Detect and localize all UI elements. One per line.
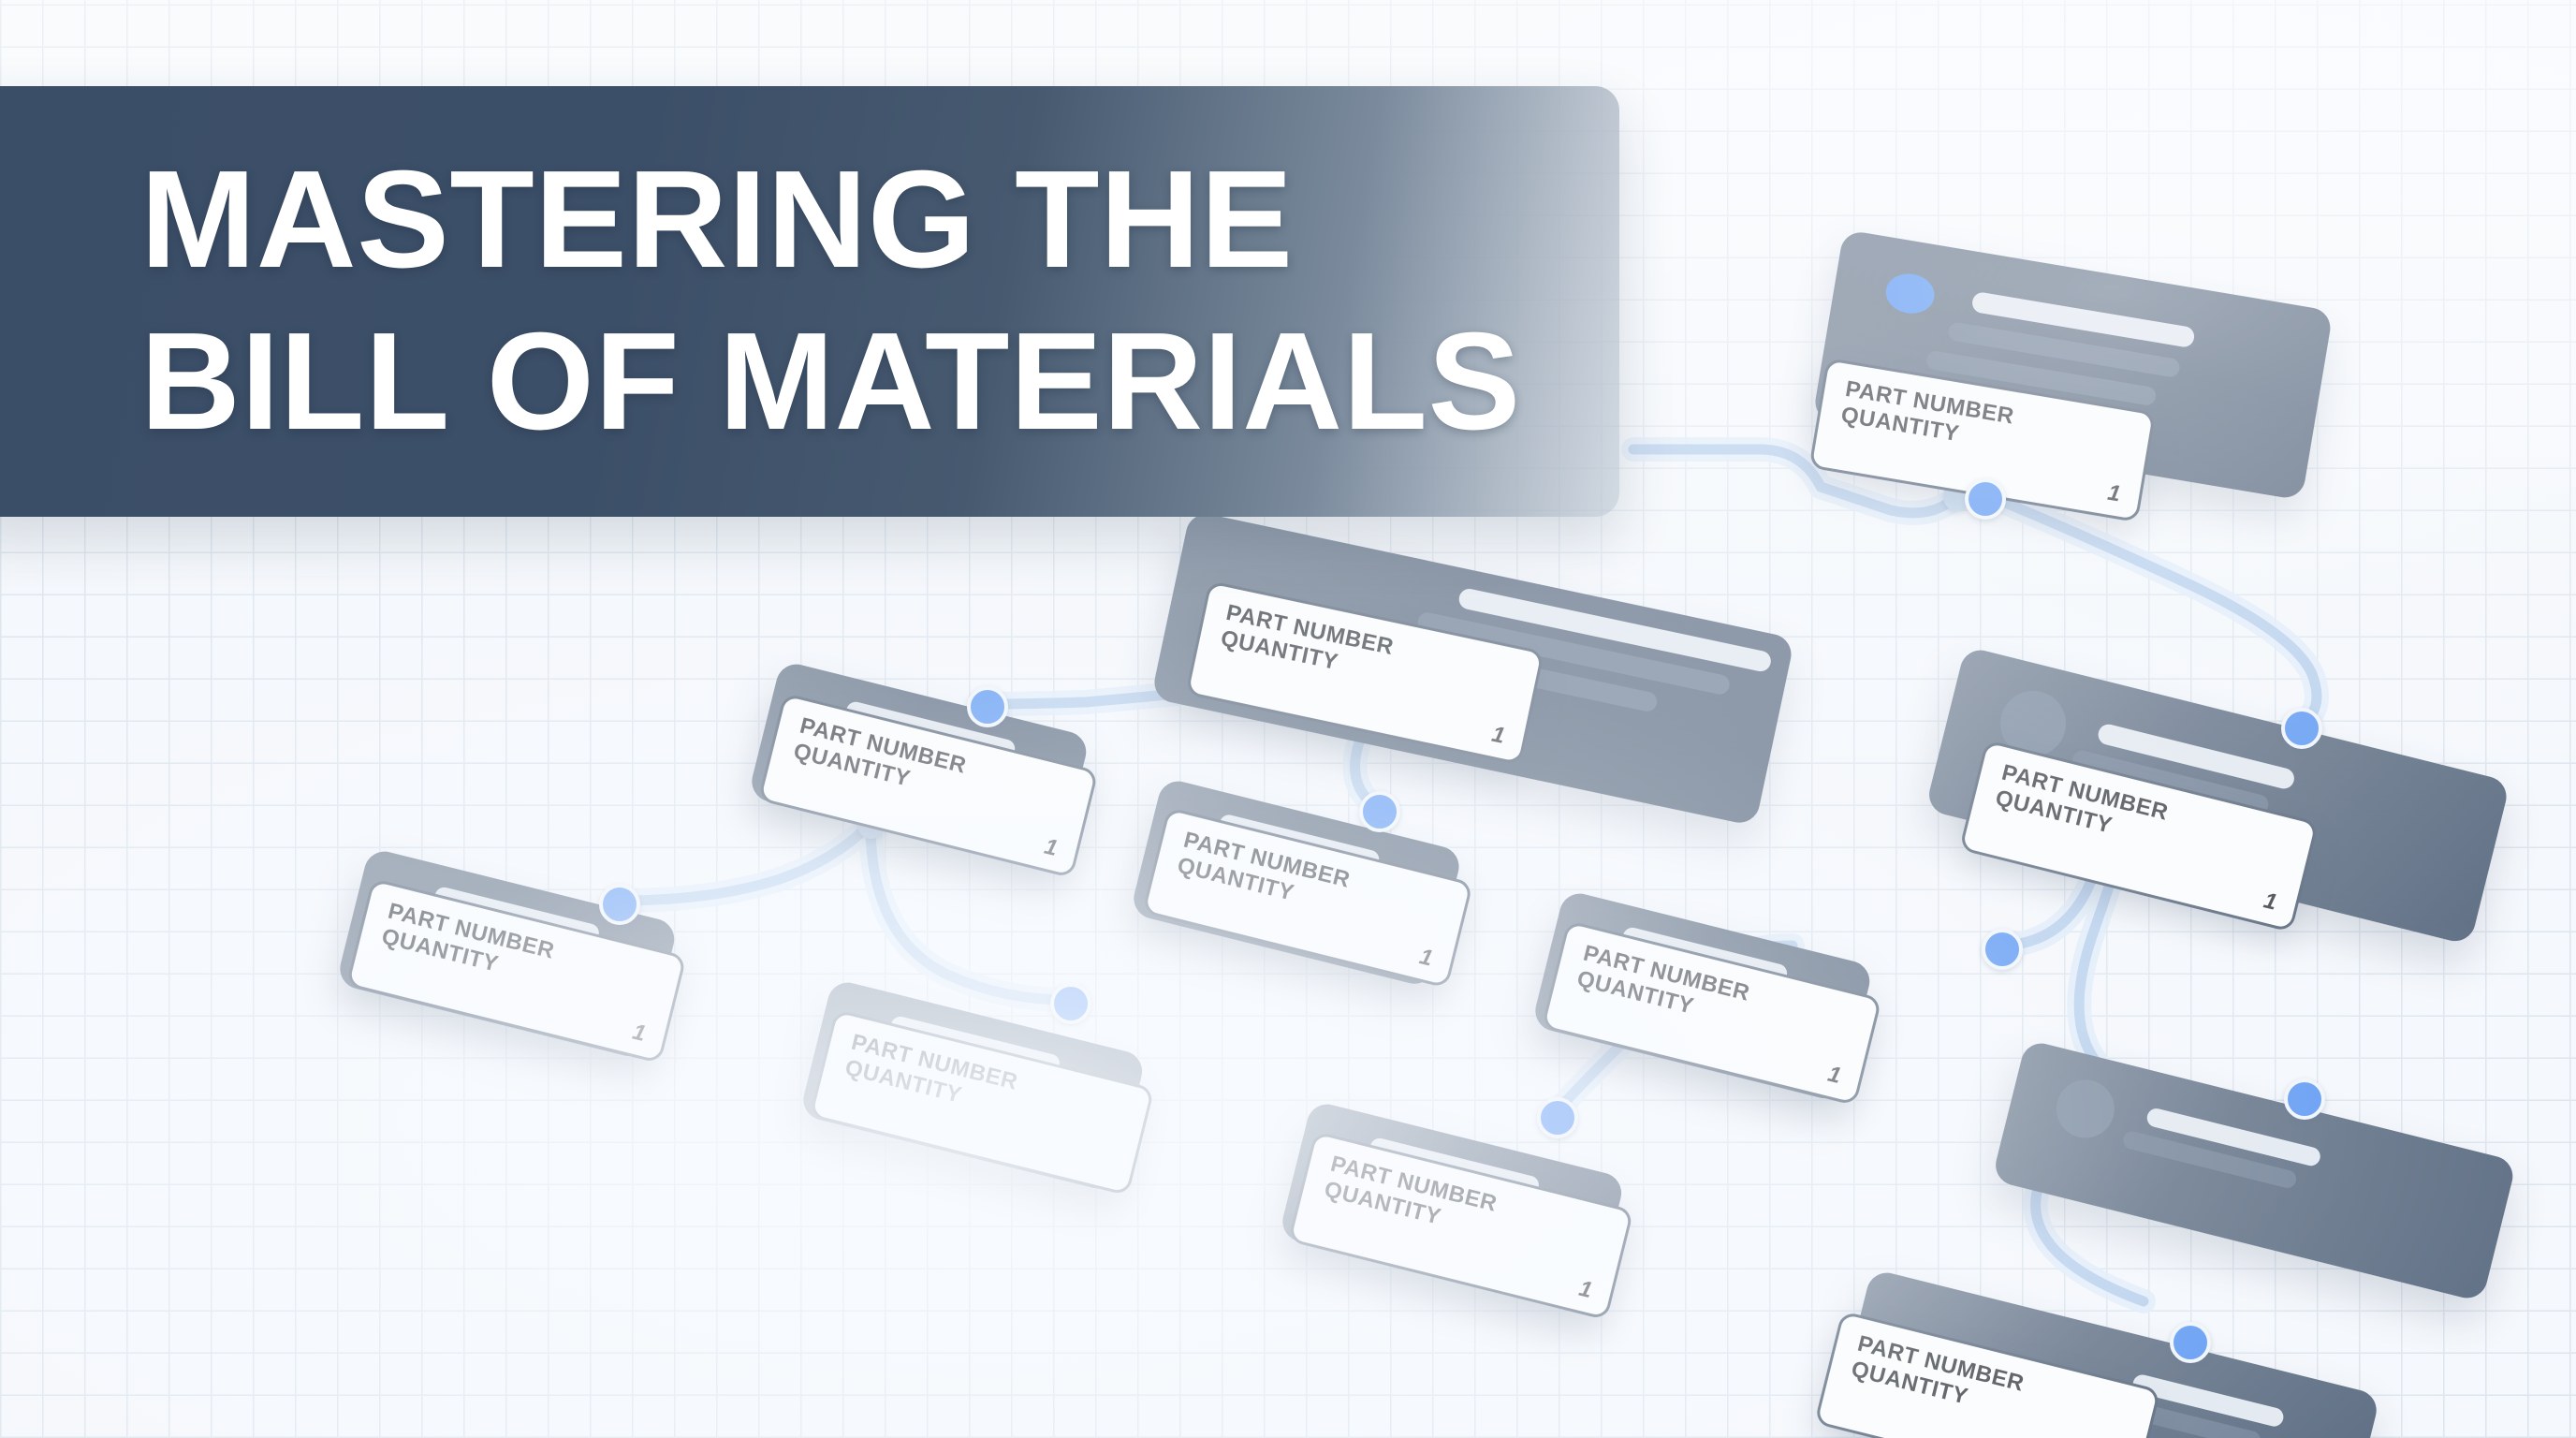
connector-node-dot[interactable] (967, 686, 1008, 727)
connector-node-dot[interactable] (599, 884, 640, 925)
part-tag-quantity: 1 (1417, 944, 1436, 972)
part-tag-quantity: 1 (2106, 480, 2123, 508)
part-tag-quantity: 1 (630, 1020, 649, 1048)
connector-node-dot[interactable] (1050, 983, 1091, 1024)
part-tag-quantity: 1 (1825, 1062, 1844, 1090)
connector-node-dot[interactable] (2281, 708, 2322, 749)
part-tag-labels: PART NUMBER QUANTITY (1839, 376, 2016, 457)
connector-node-dot[interactable] (1965, 478, 2006, 520)
part-tag-quantity: 1 (1489, 722, 1507, 750)
bom-diagram-canvas: PART NUMBER QUANTITY 1 PART NUMBER QUANT… (0, 0, 2576, 1438)
connector-node-dot[interactable] (2170, 1322, 2211, 1363)
connector-node-dot[interactable] (1537, 1097, 1578, 1138)
part-tag-quantity: 1 (1576, 1276, 1595, 1304)
part-tag-quantity: 1 (1042, 834, 1061, 862)
connector-node-dot[interactable] (2284, 1078, 2325, 1120)
connector-node-dot[interactable] (1982, 929, 2023, 970)
page-title: MASTERING THE BILL OF MATERIALS (140, 139, 1521, 462)
connector-node-dot[interactable] (1359, 791, 1400, 832)
part-tag-quantity: 1 (2261, 888, 2279, 916)
title-banner: MASTERING THE BILL OF MATERIALS (0, 86, 1619, 517)
